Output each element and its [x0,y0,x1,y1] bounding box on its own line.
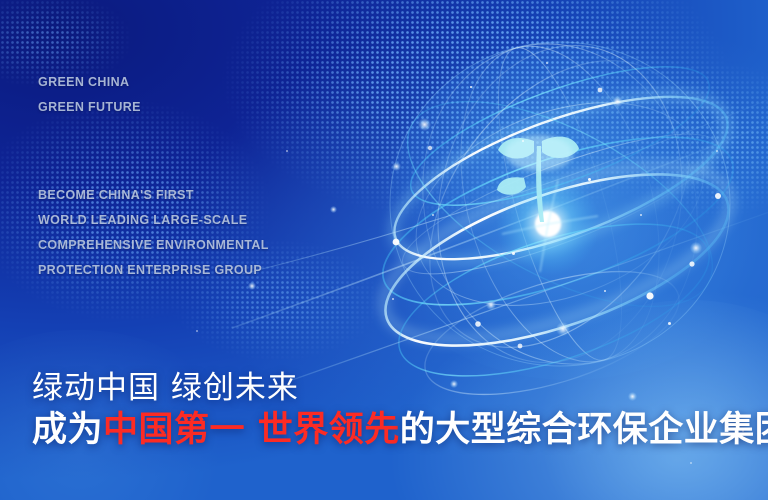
slogan-cn-highlight: 中国第一 世界领先 [103,410,400,450]
slogan-english-mission: BECOME CHINA'S FIRST WORLD LEADING LARGE… [38,183,269,283]
sprout-glow [505,135,573,171]
slogan-cn-line2: 成为中国第一 世界领先的大型综合环保企业集团 [32,408,768,452]
slogan-cn-line1: 绿动中国 绿创未来 [32,368,768,408]
slogan-en-line: WORLD LEADING LARGE-SCALE [38,208,269,233]
slogan-en-line: PROTECTION ENTERPRISE GROUP [38,258,269,283]
slogan-english-top: GREEN CHINA GREEN FUTURE [38,70,141,120]
slogan-en-line: GREEN CHINA [38,70,141,95]
slogan-chinese: 绿动中国 绿创未来 成为中国第一 世界领先的大型综合环保企业集团 [32,368,768,452]
slogan-en-line: GREEN FUTURE [38,95,141,120]
promo-banner: GREEN CHINA GREEN FUTURE BECOME CHINA'S … [0,0,768,500]
slogan-cn-suffix: 的大型综合环保企业集团 [400,410,768,450]
slogan-cn-prefix: 成为 [32,410,103,450]
slogan-en-line: COMPREHENSIVE ENVIRONMENTAL [38,233,269,258]
slogan-en-line: BECOME CHINA'S FIRST [38,183,269,208]
wireframe-globe [352,28,768,380]
